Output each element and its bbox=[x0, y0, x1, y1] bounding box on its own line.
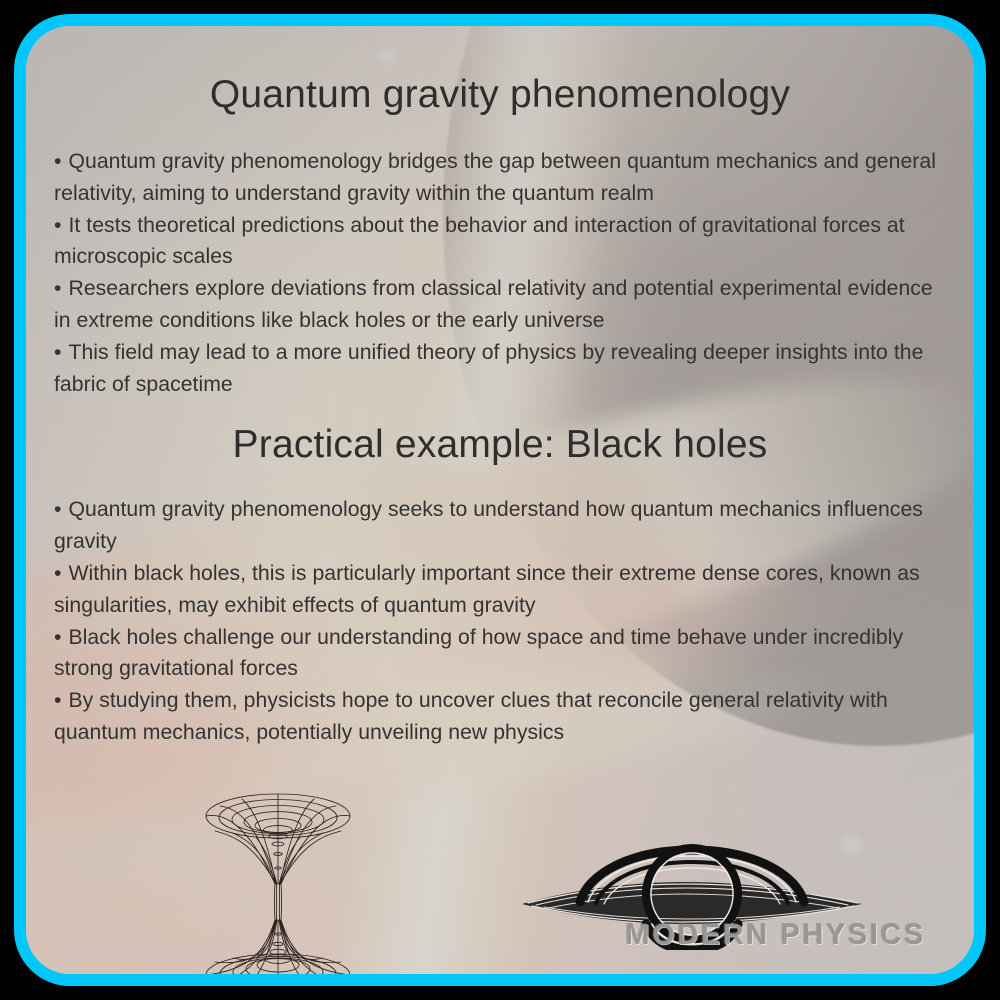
list-item: This field may lead to a more unified th… bbox=[54, 337, 946, 401]
list-item: Black holes challenge our understanding … bbox=[54, 622, 946, 686]
page-title: Quantum gravity phenomenology bbox=[54, 52, 946, 118]
slide-card: Quantum gravity phenomenology Quantum gr… bbox=[14, 14, 986, 986]
list-item: By studying them, physicists hope to unc… bbox=[54, 685, 946, 749]
wormhole-funnel-diagram bbox=[178, 784, 378, 986]
watermark-modern-physics: MODERN PHYSICS bbox=[625, 919, 926, 952]
intro-bullet-list: Quantum gravity phenomenology bridges th… bbox=[54, 146, 946, 400]
list-item: Researchers explore deviations from clas… bbox=[54, 273, 946, 337]
list-item: Within black holes, this is particularly… bbox=[54, 558, 946, 622]
list-item: Quantum gravity phenomenology bridges th… bbox=[54, 146, 946, 210]
list-item: Quantum gravity phenomenology seeks to u… bbox=[54, 494, 946, 558]
section-heading: Practical example: Black holes bbox=[54, 400, 946, 468]
list-item: It tests theoretical predictions about t… bbox=[54, 210, 946, 274]
example-bullet-list: Quantum gravity phenomenology seeks to u… bbox=[54, 494, 946, 748]
